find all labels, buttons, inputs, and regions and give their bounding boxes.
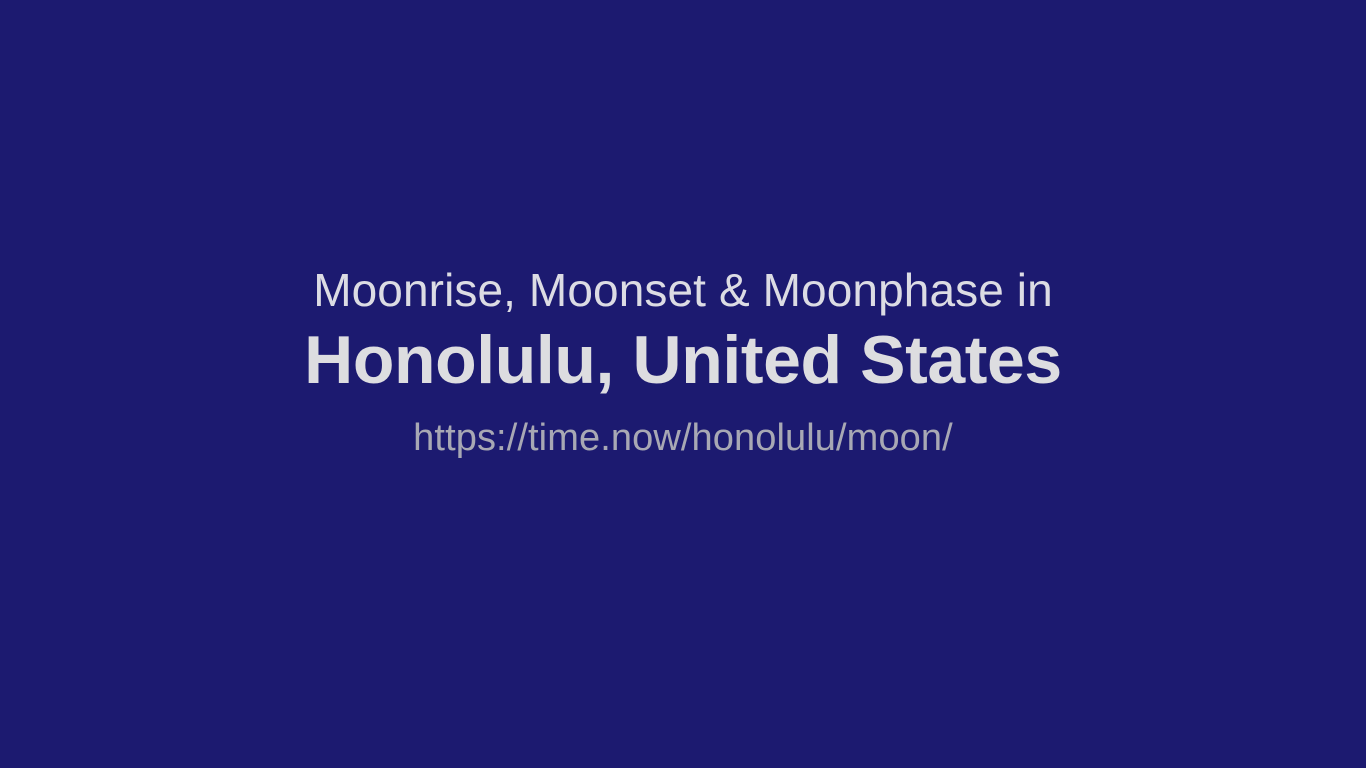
headline-location-title: Honolulu, United States: [24, 320, 1342, 400]
moon-title-card: Moonrise, Moonset & Moonphase in Honolul…: [0, 0, 1366, 768]
headline-lead-text: Moonrise, Moonset & Moonphase in: [24, 262, 1342, 318]
source-url-link[interactable]: https://time.now/honolulu/moon/: [24, 414, 1342, 462]
title-text-stack: Moonrise, Moonset & Moonphase in Honolul…: [0, 262, 1366, 462]
